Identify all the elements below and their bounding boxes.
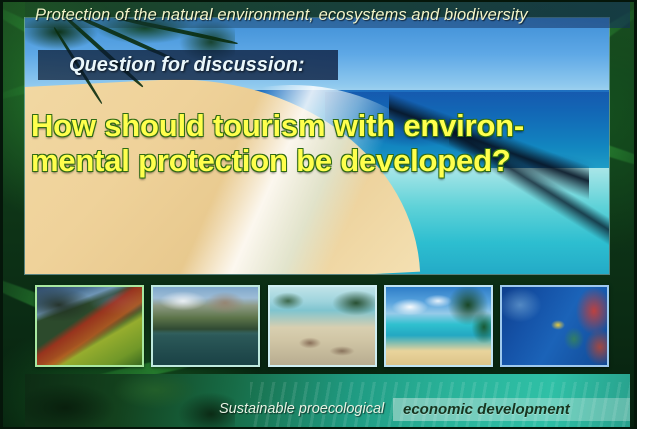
thumb-coral-reef[interactable] — [500, 285, 609, 367]
thumb-coral-reef-image — [502, 287, 607, 365]
presentation-slide: Protection of the natural environment, e… — [0, 0, 647, 429]
top-banner-title: Protection of the natural environment, e… — [35, 3, 634, 27]
thumb-palm-lagoon-image — [386, 287, 491, 365]
question-label: Question for discussion: — [69, 50, 305, 80]
thumb-palm-lagoon[interactable] — [384, 285, 493, 367]
right-margin — [637, 0, 647, 429]
mossy-rocks-layer — [25, 374, 235, 427]
thumb-autumn-mountains-image — [37, 287, 142, 365]
slide-frame-inner: Protection of the natural environment, e… — [3, 2, 634, 427]
footer-caption-bold: economic development — [403, 398, 570, 421]
slide-frame: Protection of the natural environment, e… — [0, 0, 637, 429]
thumbnail-strip — [25, 278, 630, 372]
page-title: How should tourism with environ- mental … — [31, 108, 623, 178]
thumb-mountain-lake[interactable] — [151, 285, 260, 367]
thumb-rocky-beach-image — [270, 287, 375, 365]
thumb-autumn-mountains[interactable] — [35, 285, 144, 367]
thumb-mountain-lake-image — [153, 287, 258, 365]
thumb-rocky-beach[interactable] — [268, 285, 377, 367]
footer-caption-light: Sustainable proecological — [219, 398, 384, 421]
